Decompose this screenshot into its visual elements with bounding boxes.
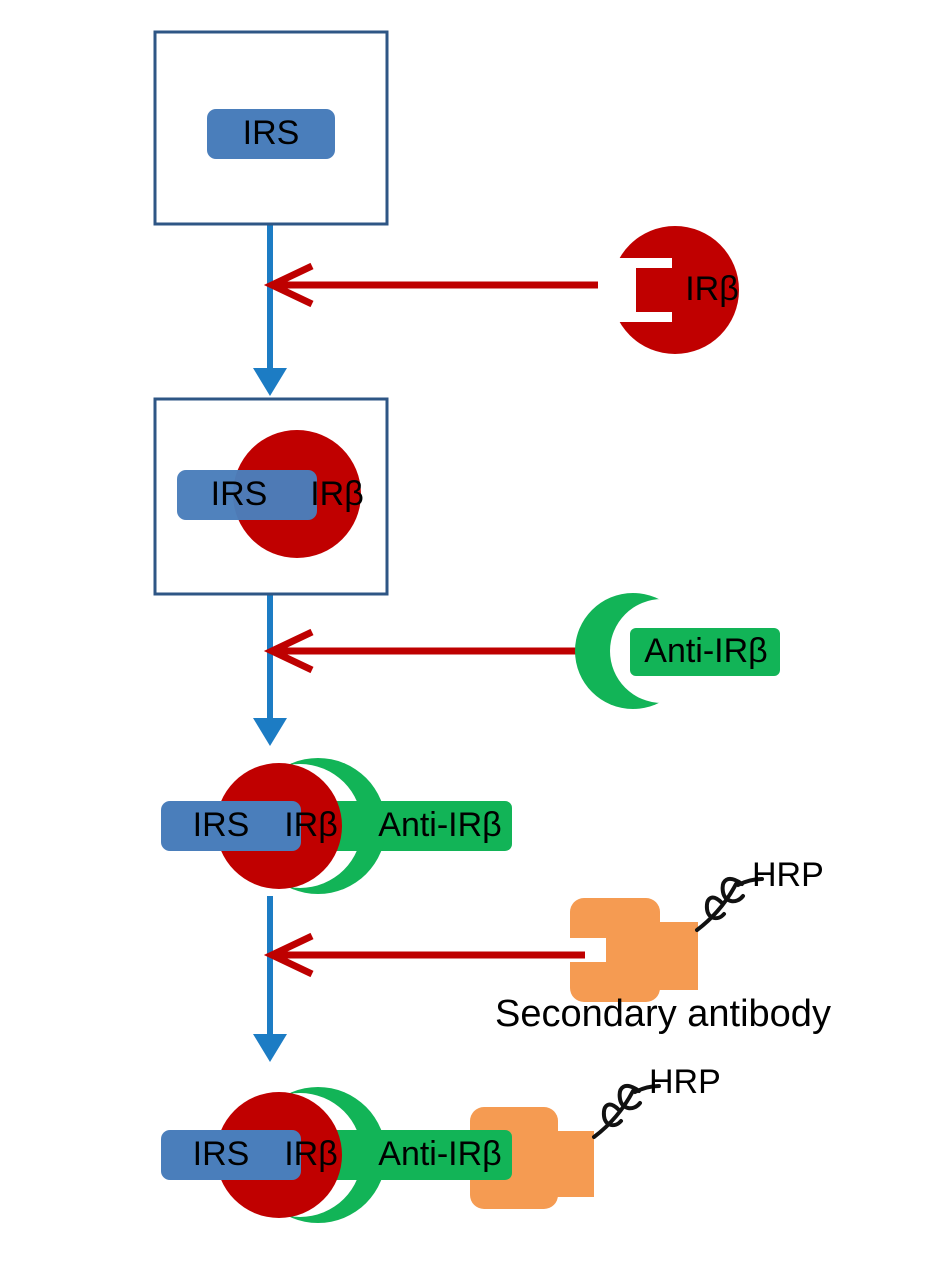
step-1-well: IRS — [155, 32, 387, 224]
secondary-antibody-caption: Secondary antibody — [495, 993, 831, 1035]
irs-label-step1: IRS — [243, 114, 300, 152]
secondary-antibody-block-reagent — [570, 898, 660, 1002]
flow-arrow-3 — [253, 896, 287, 1062]
anti-ir-beta-label-step3: Anti-IRβ — [378, 806, 501, 844]
reagent-secondary-antibody: HRP Secondary antibody — [495, 856, 831, 1035]
flow-arrow-2 — [253, 594, 287, 746]
reagent-anti-ir-beta: Anti-IRβ — [575, 593, 780, 709]
hrp-label-reagent: HRP — [752, 856, 824, 894]
anti-ir-beta-reagent-label: Anti-IRβ — [644, 632, 767, 670]
irs-label-step3: IRS — [193, 806, 250, 844]
hrp-label-step4: HRP — [649, 1063, 721, 1101]
step-3-complex: IRS IRβ Anti-IRβ — [161, 758, 512, 894]
irs-label-step4: IRS — [193, 1135, 250, 1173]
ir-beta-label-step2: IRβ — [310, 475, 364, 513]
ir-beta-label-step3: IRβ — [284, 806, 338, 844]
irs-label-step2: IRS — [211, 475, 268, 513]
diagram-canvas: IRS IRβ IRS IRβ Anti-IRβ IRS I — [0, 0, 934, 1272]
ir-beta-reagent-label: IRβ — [685, 270, 739, 308]
step-2-well: IRS IRβ — [155, 399, 387, 594]
step-4-complex: IRS IRβ Anti-IRβ HRP — [161, 1063, 721, 1223]
reagent-arrow-anti-ir-beta — [272, 632, 598, 670]
reagent-arrow-secondary-antibody — [272, 936, 585, 974]
reagent-arrow-ir-beta — [272, 266, 598, 304]
elisa-schematic: IRS IRβ IRS IRβ Anti-IRβ IRS I — [0, 0, 934, 1272]
anti-ir-beta-label-step4: Anti-IRβ — [378, 1135, 501, 1173]
ir-beta-label-step4: IRβ — [284, 1135, 338, 1173]
reagent-ir-beta: IRβ — [611, 226, 739, 354]
flow-arrow-1 — [253, 224, 287, 396]
